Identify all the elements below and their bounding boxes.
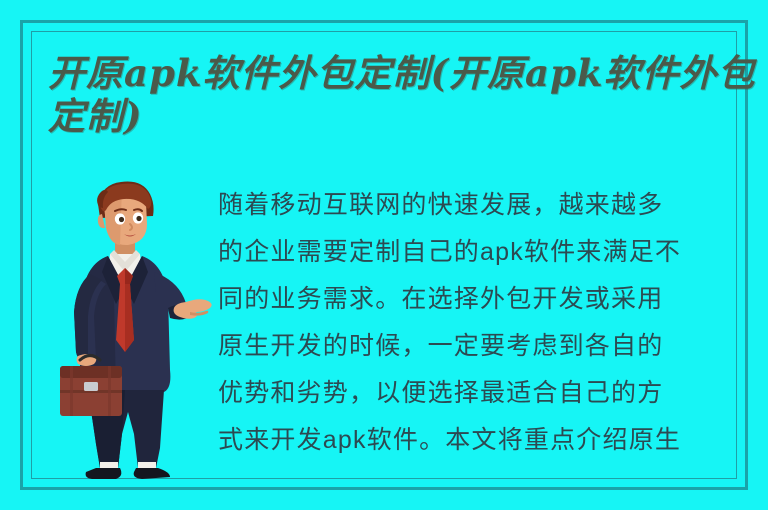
article-line: 的企业需要定制自己的apk软件来满足不 [218, 229, 738, 276]
article-line: 随着移动互联网的快速发展，越来越多 [218, 182, 738, 229]
poster-canvas: 开原apk软件外包定制(开原apk软件外包 定制) [0, 0, 768, 510]
article-body: 随着移动互联网的快速发展，越来越多 的企业需要定制自己的apk软件来满足不 同的… [218, 182, 738, 464]
businessman-icon [58, 176, 218, 482]
article-line: 优势和劣势，以便选择最适合自己的方 [218, 370, 738, 417]
article-line: 同的业务需求。在选择外包开发或采用 [218, 276, 738, 323]
title-line-1: 开原apk软件外包定制(开原apk软件外包 [48, 52, 738, 95]
page-title: 开原apk软件外包定制(开原apk软件外包 定制) [48, 52, 738, 138]
businessman-illustration [58, 176, 218, 482]
article-line: 原生开发的时候，一定要考虑到各自的 [218, 323, 738, 370]
article-line: 式来开发apk软件。本文将重点介绍原生 [218, 417, 738, 464]
title-line-2: 定制) [48, 95, 738, 138]
